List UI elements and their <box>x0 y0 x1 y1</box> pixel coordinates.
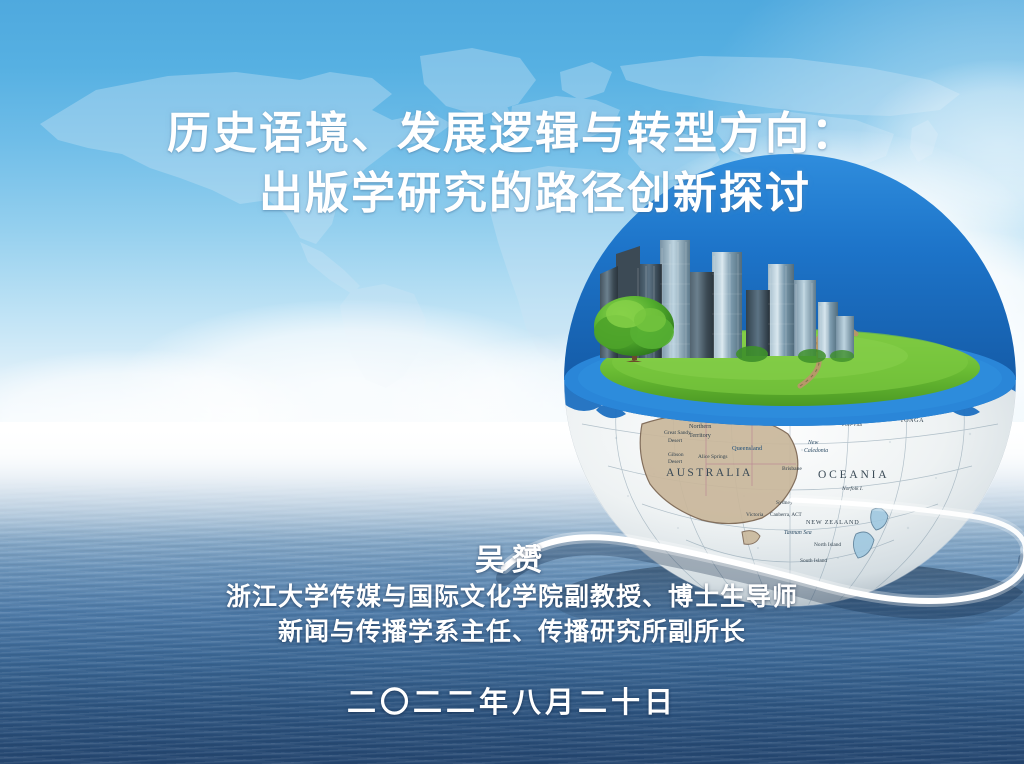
svg-text:Norfolk I.: Norfolk I. <box>841 485 863 492</box>
presenter-info: 吴赟 浙江大学传媒与国际文化学院副教授、博士生导师 新闻与传播学系主任、传播研究… <box>0 542 1024 650</box>
presenter-name: 吴赟 <box>0 542 1024 580</box>
svg-text:Territory: Territory <box>689 432 712 439</box>
svg-text:Desert: Desert <box>668 459 683 465</box>
presenter-affiliation-line-1: 浙江大学传媒与国际文化学院副教授、博士生导师 <box>0 580 1024 615</box>
svg-text:New: New <box>807 440 818 446</box>
svg-text:Victoria: Victoria <box>746 512 764 518</box>
title-slide: AUSTRALIA OCEANIA NEW ZEALAND VANUATU TO… <box>0 0 1024 764</box>
svg-text:Canberra, ACT: Canberra, ACT <box>770 512 803 518</box>
svg-text:OCEANIA: OCEANIA <box>818 469 889 481</box>
title-line-2: 出版学研究的路径创新探讨 <box>0 164 1024 224</box>
svg-text:Brisbane: Brisbane <box>782 466 802 472</box>
svg-text:Tasman Sea: Tasman Sea <box>784 530 812 536</box>
svg-text:NEW ZEALAND: NEW ZEALAND <box>806 519 860 526</box>
presentation-date: 二〇二二年八月二十日 <box>0 684 1024 722</box>
svg-text:AUSTRALIA: AUSTRALIA <box>666 467 753 479</box>
presenter-affiliation-line-2: 新闻与传播学系主任、传播研究所副所长 <box>0 615 1024 650</box>
title-line-1: 历史语境、发展逻辑与转型方向： <box>0 104 1024 164</box>
svg-text:Northern: Northern <box>689 423 711 430</box>
svg-text:Desert: Desert <box>668 438 683 444</box>
svg-text:Alice Springs: Alice Springs <box>698 454 728 460</box>
svg-text:Great Sandy: Great Sandy <box>664 430 691 436</box>
slide-title: 历史语境、发展逻辑与转型方向： 出版学研究的路径创新探讨 <box>0 104 1024 224</box>
svg-text:Queensland: Queensland <box>732 445 763 452</box>
svg-text:Caledonia: Caledonia <box>804 448 828 454</box>
svg-text:Gibson: Gibson <box>668 452 684 458</box>
